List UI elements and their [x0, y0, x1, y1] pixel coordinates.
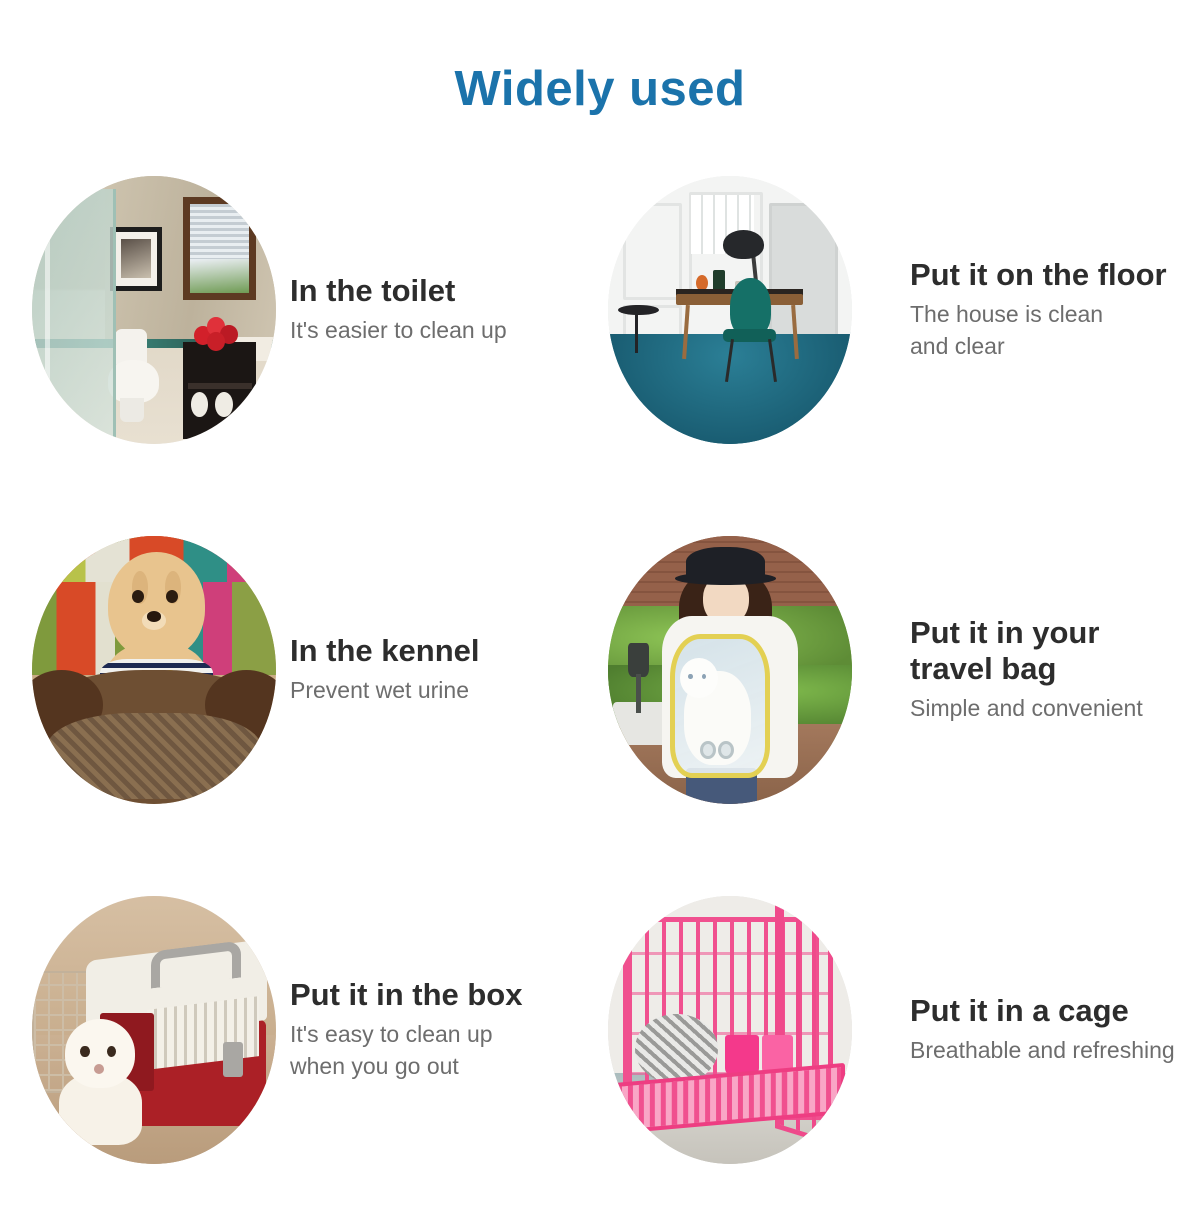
black-console	[183, 342, 256, 438]
use-case-headline: Put it on the floor	[910, 257, 1167, 293]
use-case-subtitle: Prevent wet urine	[290, 675, 479, 707]
use-case-headline: In the kennel	[290, 633, 479, 669]
bathroom-window	[183, 197, 256, 299]
use-case-copy: Put it in the box It's easy to clean up …	[290, 977, 523, 1082]
teal-chair	[730, 278, 771, 337]
use-case-row: In the kennel Prevent wet urine	[0, 490, 1200, 850]
use-case-item-floor: Put it on the floor The house is clean a…	[600, 130, 1200, 490]
air-vent-hole	[718, 741, 734, 759]
use-case-item-box: Put it in the box It's easy to clean up …	[0, 850, 600, 1210]
use-case-headline: Put it in a cage	[910, 993, 1175, 1029]
red-roses	[193, 315, 239, 350]
desk-lamp-head	[723, 230, 764, 259]
living-room-floor-photo	[608, 176, 852, 444]
use-case-headline: In the toilet	[290, 273, 507, 309]
garden-lamp	[625, 643, 652, 713]
patterned-cushion	[635, 1014, 718, 1084]
use-case-copy: Put it on the floor The house is clean a…	[910, 257, 1167, 362]
air-vent-hole	[700, 741, 716, 759]
use-case-copy: Put it in a cage Breathable and refreshi…	[910, 993, 1175, 1067]
carrier-latch	[223, 1042, 243, 1077]
use-case-subtitle: Simple and convenient	[910, 693, 1143, 725]
pet-carrier-box-photo	[32, 896, 276, 1164]
use-case-item-travel-bag: Put it in your travel bag Simple and con…	[600, 490, 1200, 850]
pink-wire-cage-photo	[608, 896, 852, 1164]
shower-glass	[32, 189, 116, 444]
use-case-row: In the toilet It's easier to clean up	[0, 130, 1200, 490]
use-case-headline: Put it in your travel bag	[910, 615, 1143, 687]
use-case-subtitle: It's easier to clean up	[290, 315, 507, 347]
use-case-headline: Put it in the box	[290, 977, 523, 1013]
use-case-copy: Put it in your travel bag Simple and con…	[910, 615, 1143, 725]
use-case-grid: In the toilet It's easier to clean up	[0, 130, 1200, 1210]
bathroom-toilet-photo	[32, 176, 276, 444]
wall-picture-frame	[110, 227, 161, 291]
use-case-subtitle: The house is clean and clear	[910, 299, 1167, 362]
use-case-subtitle: It's easy to clean up when you go out	[290, 1019, 523, 1082]
page-title: Widely used	[0, 63, 1200, 117]
white-chihuahua	[59, 1019, 142, 1142]
use-case-item-toilet: In the toilet It's easier to clean up	[0, 130, 600, 490]
use-case-copy: In the toilet It's easier to clean up	[290, 273, 507, 347]
bubble-backpack	[670, 634, 770, 778]
use-case-subtitle: Breathable and refreshing	[910, 1035, 1175, 1067]
cat-travel-backpack-photo	[608, 536, 852, 804]
poodle-in-pet-bed-photo	[32, 536, 276, 804]
use-case-item-cage: Put it in a cage Breathable and refreshi…	[600, 850, 1200, 1210]
pink-food-bowl	[725, 1035, 759, 1075]
use-case-row: Put it in the box It's easy to clean up …	[0, 850, 1200, 1210]
use-case-item-kennel: In the kennel Prevent wet urine	[0, 490, 600, 850]
woman-carrying-backpack	[662, 547, 799, 804]
use-case-copy: In the kennel Prevent wet urine	[290, 633, 479, 707]
